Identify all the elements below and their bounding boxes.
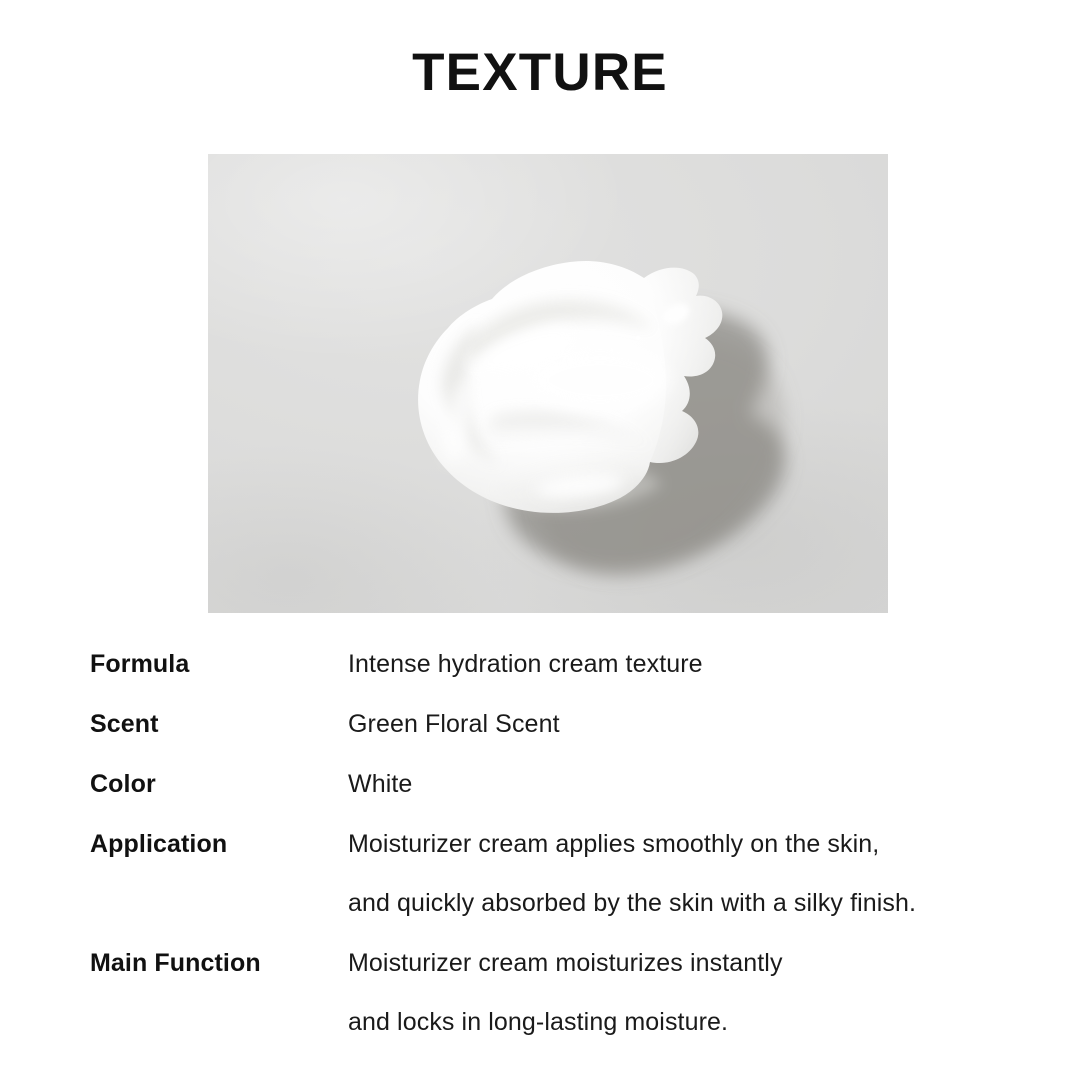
spec-row: Scent Green Floral Scent — [90, 704, 1030, 744]
spec-label-formula: Formula — [90, 644, 348, 684]
spec-value-line: Moisturizer cream applies smoothly on th… — [348, 824, 1030, 864]
cream-glint-1 — [636, 336, 640, 340]
page-title: TEXTURE — [0, 46, 1080, 99]
spec-label-application: Application — [90, 824, 348, 864]
spec-value-color: White — [348, 764, 1030, 804]
product-texture-page: TEXTURE — [0, 0, 1080, 1080]
spec-value-line: Moisturizer cream moisturizes instantly — [348, 943, 1030, 983]
spec-value-line: and quickly absorbed by the skin with a … — [348, 883, 1030, 923]
texture-photo — [208, 154, 888, 613]
spec-list: Formula Intense hydration cream texture … — [90, 644, 1030, 1042]
cream-glint-2 — [610, 348, 613, 351]
spec-label-color: Color — [90, 764, 348, 804]
cream-swatch-illustration — [208, 154, 888, 613]
spec-row: Main Function Moisturizer cream moisturi… — [90, 943, 1030, 1042]
spec-label-main-function: Main Function — [90, 943, 348, 983]
cream-highlight-center — [530, 350, 670, 410]
spec-value-line: White — [348, 764, 1030, 804]
cream-glint-3 — [559, 367, 562, 370]
spec-label-scent: Scent — [90, 704, 348, 744]
spec-value-main-function: Moisturizer cream moisturizes instantly … — [348, 943, 1030, 1042]
spec-value-line: Green Floral Scent — [348, 704, 1030, 744]
spec-row: Formula Intense hydration cream texture — [90, 644, 1030, 684]
spec-value-scent: Green Floral Scent — [348, 704, 1030, 744]
spec-value-application: Moisturizer cream applies smoothly on th… — [348, 824, 1030, 923]
spec-row: Application Moisturizer cream applies sm… — [90, 824, 1030, 923]
spec-value-line: and locks in long-lasting moisture. — [348, 1002, 1030, 1042]
spec-value-formula: Intense hydration cream texture — [348, 644, 1030, 684]
spec-value-line: Intense hydration cream texture — [348, 644, 1030, 684]
spec-row: Color White — [90, 764, 1030, 804]
